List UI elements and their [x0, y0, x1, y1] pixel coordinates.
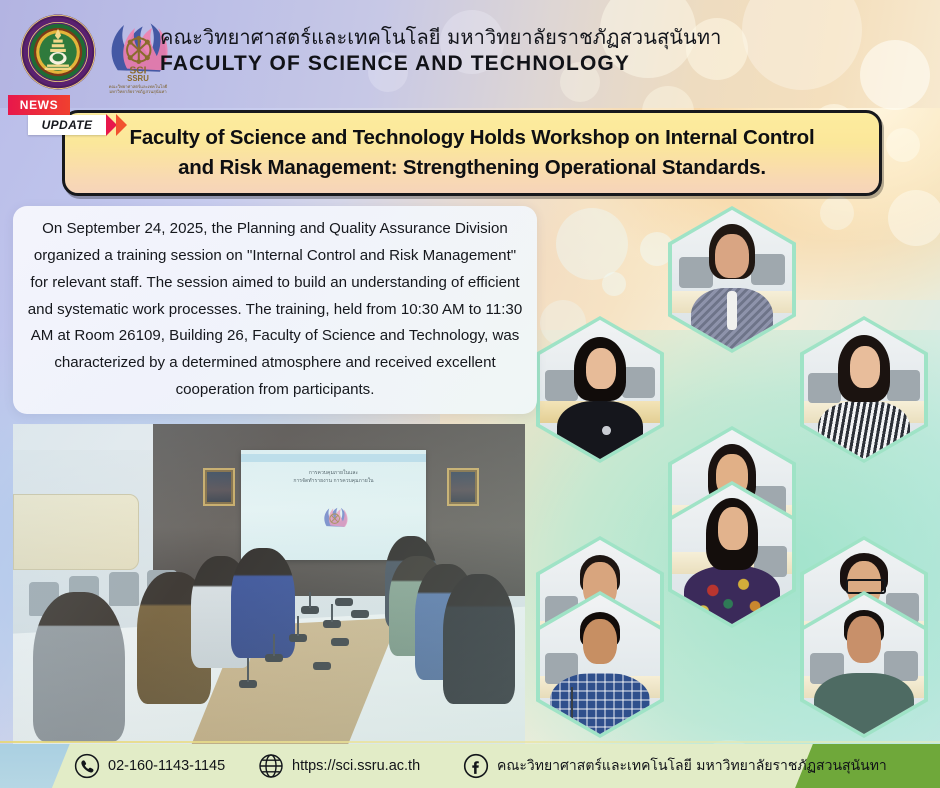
ssru-seal-icon — [19, 13, 97, 91]
room-illustration: การควบคุมภายในและ การจัดทำรายงาน การควบค… — [13, 424, 525, 746]
svg-text:SSRU: SSRU — [127, 74, 149, 83]
poster-root: SCI SSRU คณะวิทยาศาสตร์และเทคโนโลยี มหาว… — [0, 0, 940, 788]
news-label: NEWS — [8, 95, 70, 115]
footer-facebook-item[interactable]: คณะวิทยาศาสตร์และเทคโนโลยี มหาวิทยาลัยรา… — [463, 753, 887, 779]
page-header: SCI SSRU คณะวิทยาศาสตร์และเทคโนโลยี มหาว… — [0, 0, 940, 108]
page-footer: 02-160-1143-1145 https://sci.ssru.ac.th … — [0, 744, 940, 788]
headline-line-2: and Risk Management: Strengthening Opera… — [130, 153, 815, 183]
footer-divider — [0, 741, 940, 743]
headline-text: Faculty of Science and Technology Holds … — [112, 123, 833, 182]
sci-logo-caption-th2: มหาวิทยาลัยราชภัฏสวนสุนันทา — [109, 89, 166, 95]
facebook-icon — [463, 753, 489, 779]
footer-facebook-text: คณะวิทยาศาสตร์และเทคโนโลยี มหาวิทยาลัยรา… — [497, 755, 887, 777]
update-label: UPDATE — [28, 115, 106, 135]
footer-phone-item[interactable]: 02-160-1143-1145 — [74, 753, 225, 779]
footer-website-text: https://sci.ssru.ac.th — [292, 758, 420, 774]
article-body-text: On September 24, 2025, the Planning and … — [13, 216, 537, 404]
headline-line-1: Faculty of Science and Technology Holds … — [130, 123, 815, 153]
footer-website-item[interactable]: https://sci.ssru.ac.th — [258, 753, 420, 779]
hex-portrait-gallery — [528, 206, 940, 751]
news-update-badge: NEWS UPDATE — [8, 95, 218, 143]
footer-phone-text: 02-160-1143-1145 — [108, 758, 225, 774]
footer-left-slant — [0, 744, 71, 788]
header-english-title: FACULTY OF SCIENCE AND TECHNOLOGY — [160, 51, 860, 77]
hex-portrait-1 — [668, 206, 796, 353]
hex-portrait-2 — [536, 316, 664, 463]
article-body-card: On September 24, 2025, the Planning and … — [13, 206, 537, 414]
chevron-right-icon-2 — [116, 114, 127, 136]
header-titles: คณะวิทยาศาสตร์และเทคโนโลยี มหาวิทยาลัยรา… — [160, 26, 860, 77]
phone-icon — [74, 753, 100, 779]
globe-icon — [258, 753, 284, 779]
hex-portrait-3 — [800, 316, 928, 463]
main-photo-conference-room: การควบคุมภายในและ การจัดทำรายงาน การควบค… — [13, 424, 525, 746]
header-thai-title: คณะวิทยาศาสตร์และเทคโนโลยี มหาวิทยาลัยรา… — [160, 26, 860, 49]
